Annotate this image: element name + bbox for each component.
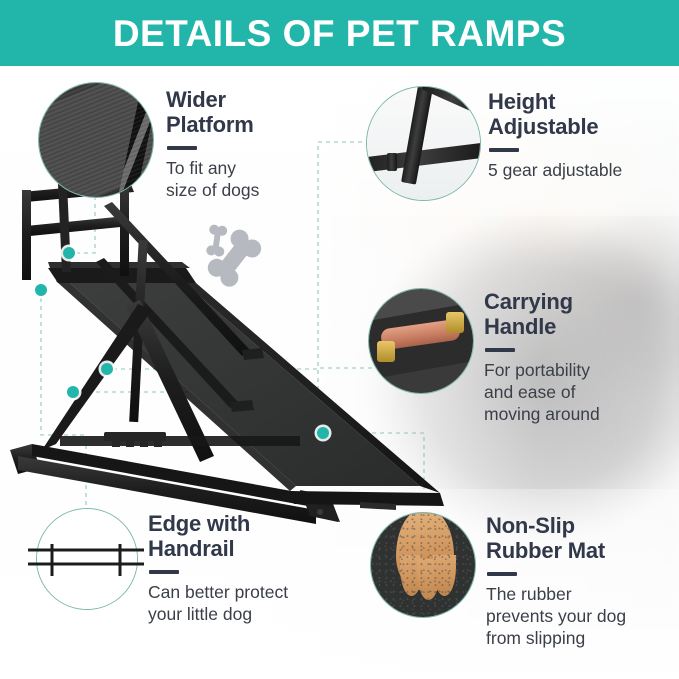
platform-thumbnail-edge xyxy=(118,83,154,197)
hotspot-leg-joint xyxy=(101,363,113,375)
callout-wider-platform-text: Wider Platform To fit any size of dogs xyxy=(166,88,336,201)
hotspot-platform xyxy=(63,247,75,259)
paw-toe-2 xyxy=(417,559,440,601)
callout-title-line1: Non-Slip xyxy=(486,514,679,539)
rubber-mat-thumbnail-image xyxy=(371,513,475,617)
title-divider xyxy=(485,348,515,351)
strap-clip-right xyxy=(446,312,464,333)
carrying-handle-thumbnail xyxy=(368,288,474,394)
page-title: DETAILS OF PET RAMPS xyxy=(113,15,566,52)
bone-decals xyxy=(196,218,316,300)
dog-paw xyxy=(396,512,454,590)
title-divider xyxy=(489,148,519,151)
callout-title-line2: Platform xyxy=(166,113,336,138)
callout-title-line2: Rubber Mat xyxy=(486,539,679,564)
handrail-mid-bar xyxy=(26,216,130,236)
callout-body-line1: For portability xyxy=(484,359,674,381)
bone-small xyxy=(206,224,228,257)
handrail-end-cap-lower xyxy=(230,400,254,412)
callout-body-line3: moving around xyxy=(484,403,674,425)
carrying-handle-thumbnail-image xyxy=(369,289,473,393)
height-adjust-thumbnail xyxy=(366,86,481,201)
title-divider xyxy=(149,570,179,573)
header-banner: DETAILS OF PET RAMPS xyxy=(0,0,679,66)
callout-title-line1: Edge with xyxy=(148,512,358,537)
handrail-post-left xyxy=(22,190,31,280)
callout-carrying-handle-text: Carrying Handle For portability and ease… xyxy=(484,290,674,425)
callout-title-line1: Carrying xyxy=(484,290,674,315)
infographic-page: DETAILS OF PET RAMPS xyxy=(0,0,679,679)
callout-non-slip-rubber-mat-text: Non-Slip Rubber Mat The rubber prevents … xyxy=(486,514,679,649)
hotspot-rubber-mat xyxy=(317,427,329,439)
platform-thumbnail xyxy=(38,82,154,198)
ramp-deck xyxy=(62,276,420,486)
frame-bar-diagonal xyxy=(401,86,434,185)
handrail-end-cap-upper xyxy=(242,348,264,360)
callout-body-line1: Can better protect xyxy=(148,581,358,603)
frame-notch xyxy=(387,153,397,171)
callout-edge-with-handrail-text: Edge with Handrail Can better protect yo… xyxy=(148,512,358,625)
callout-title-line2: Handle xyxy=(484,315,674,340)
callout-title-line2: Handrail xyxy=(148,537,358,562)
bone-large xyxy=(204,226,265,290)
title-divider xyxy=(487,572,517,575)
strap-clip-left xyxy=(377,341,395,362)
callout-title-line1: Wider xyxy=(166,88,336,113)
frame-bar-horizontal xyxy=(366,142,481,173)
callout-height-adjustable-text: Height Adjustable 5 gear adjustable xyxy=(488,90,668,181)
callout-body-line2: your little dog xyxy=(148,603,358,625)
height-adjust-thumbnail-image xyxy=(367,87,480,200)
callout-body-line2: size of dogs xyxy=(166,179,336,201)
frame-bar-upper xyxy=(422,86,481,118)
title-divider xyxy=(167,146,197,149)
callout-body-line2: and ease of xyxy=(484,381,674,403)
callout-title-line1: Height xyxy=(488,90,668,115)
handrail-line-icon xyxy=(26,542,146,578)
callout-body-line1: The rubber xyxy=(486,583,679,605)
rubber-mat-thumbnail xyxy=(370,512,476,618)
paw-toe-1 xyxy=(400,555,423,597)
callout-body-line3: from slipping xyxy=(486,627,679,649)
platform-thumbnail-image xyxy=(39,83,153,197)
paw-toe-3 xyxy=(433,555,456,597)
hotspot-handrail-edge xyxy=(35,284,47,296)
callout-body-line2: prevents your dog xyxy=(486,605,679,627)
callout-body-line1: 5 gear adjustable xyxy=(488,159,668,181)
callout-body-line1: To fit any xyxy=(166,157,336,179)
hotspot-height-gear xyxy=(67,386,79,398)
callout-title-line2: Adjustable xyxy=(488,115,668,140)
support-leg-cross xyxy=(60,436,300,446)
